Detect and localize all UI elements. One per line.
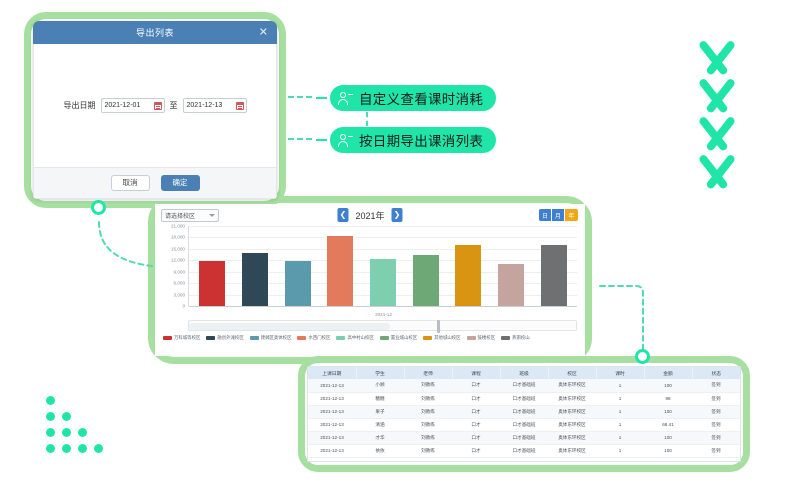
table-cell: 糖糖 <box>356 392 404 405</box>
legend-item[interactable]: 鼓楼校区 <box>467 335 496 341</box>
table-cell: 小顾 <box>356 379 404 392</box>
chart-bar[interactable] <box>455 245 481 306</box>
export-date-row: 导出日期 2021-12-01 至 2021-12-13 <box>64 98 247 113</box>
table-cell: 签到 <box>692 405 740 418</box>
legend-label: 置业城山校区 <box>391 335 417 341</box>
slider-handle[interactable] <box>437 320 440 333</box>
legend-label: 水西门校区 <box>308 335 330 341</box>
table-cell: 口才 <box>452 418 500 431</box>
table-cell: 刘教练 <box>404 392 452 405</box>
legend-swatch <box>423 336 432 341</box>
table-cell: 2021-12-13 <box>308 392 356 405</box>
y-axis-tick: 9,000 <box>174 269 186 274</box>
dialog-footer: 取消 确定 <box>33 167 277 199</box>
legend-swatch <box>467 336 476 341</box>
legend-label: 建邺区奥体校区 <box>261 335 292 341</box>
confirm-button[interactable]: 确定 <box>161 175 200 191</box>
range-toggle-day[interactable]: 日 <box>539 209 552 221</box>
table-row[interactable]: 2021-12-13依依刘教练口才口才基础班奥体东环校区1100签到 <box>308 444 740 457</box>
table-cell: 奥体东环校区 <box>548 418 596 431</box>
table-cell: 1 <box>596 405 644 418</box>
pill-stub-1 <box>316 97 327 99</box>
table-cell: 98 <box>644 392 692 405</box>
export-date-label: 导出日期 <box>64 100 96 111</box>
table-cell: 口才基础班 <box>500 418 548 431</box>
y-axis-tick: 21,000 <box>171 224 185 229</box>
table-cell: 2021-12-13 <box>308 379 356 392</box>
table-cell: 1 <box>596 392 644 405</box>
table-cell: 1 <box>596 431 644 444</box>
poster-canvas: 导出列表 ✕ 导出日期 2021-12-01 至 2021-12-13 取消 确… <box>0 0 800 500</box>
table-cell: 口才基础班 <box>500 444 548 457</box>
calendar-icon[interactable] <box>236 102 244 110</box>
connector-node-table <box>635 349 650 364</box>
campus-select-value: 请选择校区 <box>165 211 209 220</box>
pill-stub-2 <box>316 139 327 141</box>
table-body: 2021-12-13小顾刘教练口才口才基础班奥体东环校区1100签到2021-1… <box>308 379 740 457</box>
legend-item[interactable]: 水西门校区 <box>297 335 330 341</box>
table-cell: 100 <box>644 431 692 444</box>
table-cell: 100 <box>644 444 692 457</box>
legend-label: 万科城等校区 <box>174 335 200 341</box>
table-cell: 口才 <box>452 379 500 392</box>
chart-bar[interactable] <box>413 255 439 306</box>
y-axis-tick: 0 <box>182 304 185 309</box>
legend-label: 融创外滩校区 <box>217 335 243 341</box>
table-row[interactable]: 2021-12-13小顾刘教练口才口才基础班奥体东环校区1100签到 <box>308 379 740 392</box>
table-cell: 100 <box>644 405 692 418</box>
legend-item[interactable]: 融创外滩校区 <box>206 335 243 341</box>
y-axis-tick: 18,000 <box>171 235 185 240</box>
chart-bar[interactable] <box>541 245 567 306</box>
table-cell: 口才 <box>452 444 500 457</box>
table-column-header: 老师 <box>404 367 452 379</box>
table-column-header: 校区 <box>548 367 596 379</box>
chart-range-slider[interactable] <box>188 320 577 331</box>
date-from-input[interactable]: 2021-12-01 <box>101 98 165 113</box>
legend-label: 燕南校山 <box>512 335 530 341</box>
bar-series <box>191 226 575 306</box>
table-column-header: 上课日期 <box>308 367 356 379</box>
y-axis-tick: 15,000 <box>171 246 185 251</box>
table-cell: 口才基础班 <box>500 431 548 444</box>
y-axis-tick: 12,000 <box>171 258 185 263</box>
legend-label: 高中村山校区 <box>347 335 373 341</box>
chart-bar[interactable] <box>327 236 353 306</box>
table-cell: 2021-12-13 <box>308 418 356 431</box>
date-to-input[interactable]: 2021-12-13 <box>183 98 247 113</box>
legend-item[interactable]: 万科城等校区 <box>163 335 200 341</box>
table-cell: 奥体东环校区 <box>548 444 596 457</box>
table-cell: 刘教练 <box>404 405 452 418</box>
chevron-down-icon <box>209 214 215 217</box>
table-cell: 2021-12-13 <box>308 405 356 418</box>
range-toggle-year[interactable]: 年 <box>565 209 578 221</box>
table-cell: 口才基础班 <box>500 379 548 392</box>
table-cell: 刘教练 <box>404 379 452 392</box>
feature-pill-export-by-date[interactable]: 按日期导出课消列表 <box>330 127 496 153</box>
legend-swatch <box>336 336 345 341</box>
date-range-separator: 至 <box>170 100 178 111</box>
table-cell: 签到 <box>692 418 740 431</box>
user-profile-icon <box>337 132 354 149</box>
legend-label: 其他城山校区 <box>434 335 460 341</box>
table-column-header: 班级 <box>500 367 548 379</box>
legend-swatch <box>380 336 389 341</box>
table-cell: 果子 <box>356 405 404 418</box>
table-cell: 2021-12-13 <box>308 431 356 444</box>
connector-node-dialog <box>91 200 106 215</box>
table-cell: 才华 <box>356 431 404 444</box>
table-row[interactable]: 2021-12-13糖糖刘教练口才口才基础班奥体东环校区198签到 <box>308 392 740 405</box>
bar-chart: 03,0006,0009,00012,00015,00018,00021,000… <box>161 226 579 318</box>
legend-item[interactable]: 置业城山校区 <box>380 335 417 341</box>
range-toggle-month[interactable]: 月 <box>552 209 565 221</box>
y-axis: 03,0006,0009,00012,00015,00018,00021,000 <box>161 226 187 306</box>
table-cell: 66.41 <box>644 418 692 431</box>
chart-bar[interactable] <box>498 264 524 306</box>
table-header-row: 上课日期学生老师课程班级校区课时金额状态 <box>308 367 740 379</box>
year-label: 2021年 <box>355 209 384 222</box>
table-cell: 100 <box>644 379 692 392</box>
table-column-header: 课时 <box>596 367 644 379</box>
table-cell: 刘教练 <box>404 444 452 457</box>
slider-fill <box>189 323 390 330</box>
table-cell: 奥体东环校区 <box>548 405 596 418</box>
table-row[interactable]: 2021-12-13果子刘教练口才口才基础班奥体东环校区1100签到 <box>308 405 740 418</box>
table-cell: 刘教练 <box>404 431 452 444</box>
legend-swatch <box>297 336 306 341</box>
table-column-header: 课程 <box>452 367 500 379</box>
table-cell: 口才基础班 <box>500 405 548 418</box>
table-cell: 奥体东环校区 <box>548 379 596 392</box>
table-cell: 清涵 <box>356 418 404 431</box>
table-row[interactable]: 2021-12-13清涵刘教练口才口才基础班奥体东环校区166.41签到 <box>308 418 740 431</box>
legend-item[interactable]: 建邺区奥体校区 <box>250 335 292 341</box>
table-cell: 签到 <box>692 444 740 457</box>
table-cell: 口才 <box>452 405 500 418</box>
legend-swatch <box>250 336 259 341</box>
export-list-dialog: 导出列表 ✕ 导出日期 2021-12-01 至 2021-12-13 取消 确… <box>33 21 277 199</box>
date-from-value: 2021-12-01 <box>105 102 152 109</box>
table-cell: 1 <box>596 418 644 431</box>
feature-pill-label: 按日期导出课消列表 <box>359 130 483 150</box>
feature-pill-label: 自定义查看课时消耗 <box>359 88 483 108</box>
legend-swatch <box>501 336 510 341</box>
table-cell: 1 <box>596 379 644 392</box>
y-axis-tick: 6,000 <box>174 281 186 286</box>
year-navigator: ❮ 2021年 ❯ <box>337 208 402 222</box>
chart-panel: 请选择校区 ❮ 2021年 ❯ 日 月 年 03,0006,0009,00012… <box>155 204 585 356</box>
campus-select[interactable]: 请选择校区 <box>161 209 219 222</box>
x-axis-label: 2021-12 <box>188 312 579 317</box>
dialog-body: 导出日期 2021-12-01 至 2021-12-13 <box>33 44 277 167</box>
legend-swatch <box>206 336 215 341</box>
dialog-title: 导出列表 <box>136 26 174 39</box>
legend-item[interactable]: 高中村山校区 <box>336 335 373 341</box>
cancel-button[interactable]: 取消 <box>111 175 150 191</box>
prev-year-button[interactable]: ❮ <box>337 208 348 222</box>
next-year-button[interactable]: ❯ <box>392 208 403 222</box>
table-cell: 口才 <box>452 431 500 444</box>
y-axis-tick: 3,000 <box>174 292 186 297</box>
table-cell: 刘教练 <box>404 418 452 431</box>
pill-connector-dash-2 <box>288 138 312 140</box>
chart-bar[interactable] <box>242 253 268 306</box>
user-profile-icon <box>337 90 354 107</box>
pill-connector-dash-vertical <box>366 112 368 126</box>
table-cell: 签到 <box>692 379 740 392</box>
table-cell: 2021-12-13 <box>308 444 356 457</box>
table-cell: 1 <box>596 444 644 457</box>
chart-bar[interactable] <box>285 261 311 306</box>
pill-connector-dash-1 <box>288 96 312 98</box>
legend-item[interactable]: 燕南校山 <box>501 335 530 341</box>
chart-bar[interactable] <box>199 261 225 306</box>
date-to-value: 2021-12-13 <box>187 102 234 109</box>
table-column-header: 学生 <box>356 367 404 379</box>
table-cell: 签到 <box>692 431 740 444</box>
feature-pill-custom-view[interactable]: 自定义查看课时消耗 <box>330 85 496 111</box>
table-cell: 口才基础班 <box>500 392 548 405</box>
dialog-titlebar: 导出列表 ✕ <box>33 21 277 44</box>
chart-toolbar: 请选择校区 ❮ 2021年 ❯ 日 月 年 <box>155 204 585 226</box>
table-cell: 奥体东环校区 <box>548 392 596 405</box>
table-row[interactable]: 2021-12-13才华刘教练口才口才基础班奥体东环校区1100签到 <box>308 431 740 444</box>
table-column-header: 金额 <box>644 367 692 379</box>
calendar-icon[interactable] <box>154 102 162 110</box>
close-icon[interactable]: ✕ <box>259 27 268 38</box>
table-column-header: 状态 <box>692 367 740 379</box>
table-cell: 奥体东环校区 <box>548 431 596 444</box>
table-cell: 签到 <box>692 392 740 405</box>
course-consumption-table: 上课日期学生老师课程班级校区课时金额状态 2021-12-13小顾刘教练口才口才… <box>307 366 741 462</box>
chart-bar[interactable] <box>370 259 396 306</box>
chart-legend: 万科城等校区融创外滩校区建邺区奥体校区水西门校区高中村山校区置业城山校区其他城山… <box>163 335 585 341</box>
chart-gridlines <box>188 226 577 306</box>
gridline <box>189 306 577 307</box>
range-toggle-group: 日 月 年 <box>539 209 578 221</box>
table-cell: 依依 <box>356 444 404 457</box>
legend-label: 鼓楼校区 <box>478 335 496 341</box>
table-cell: 口才 <box>452 392 500 405</box>
legend-swatch <box>163 336 172 341</box>
legend-item[interactable]: 其他城山校区 <box>423 335 460 341</box>
